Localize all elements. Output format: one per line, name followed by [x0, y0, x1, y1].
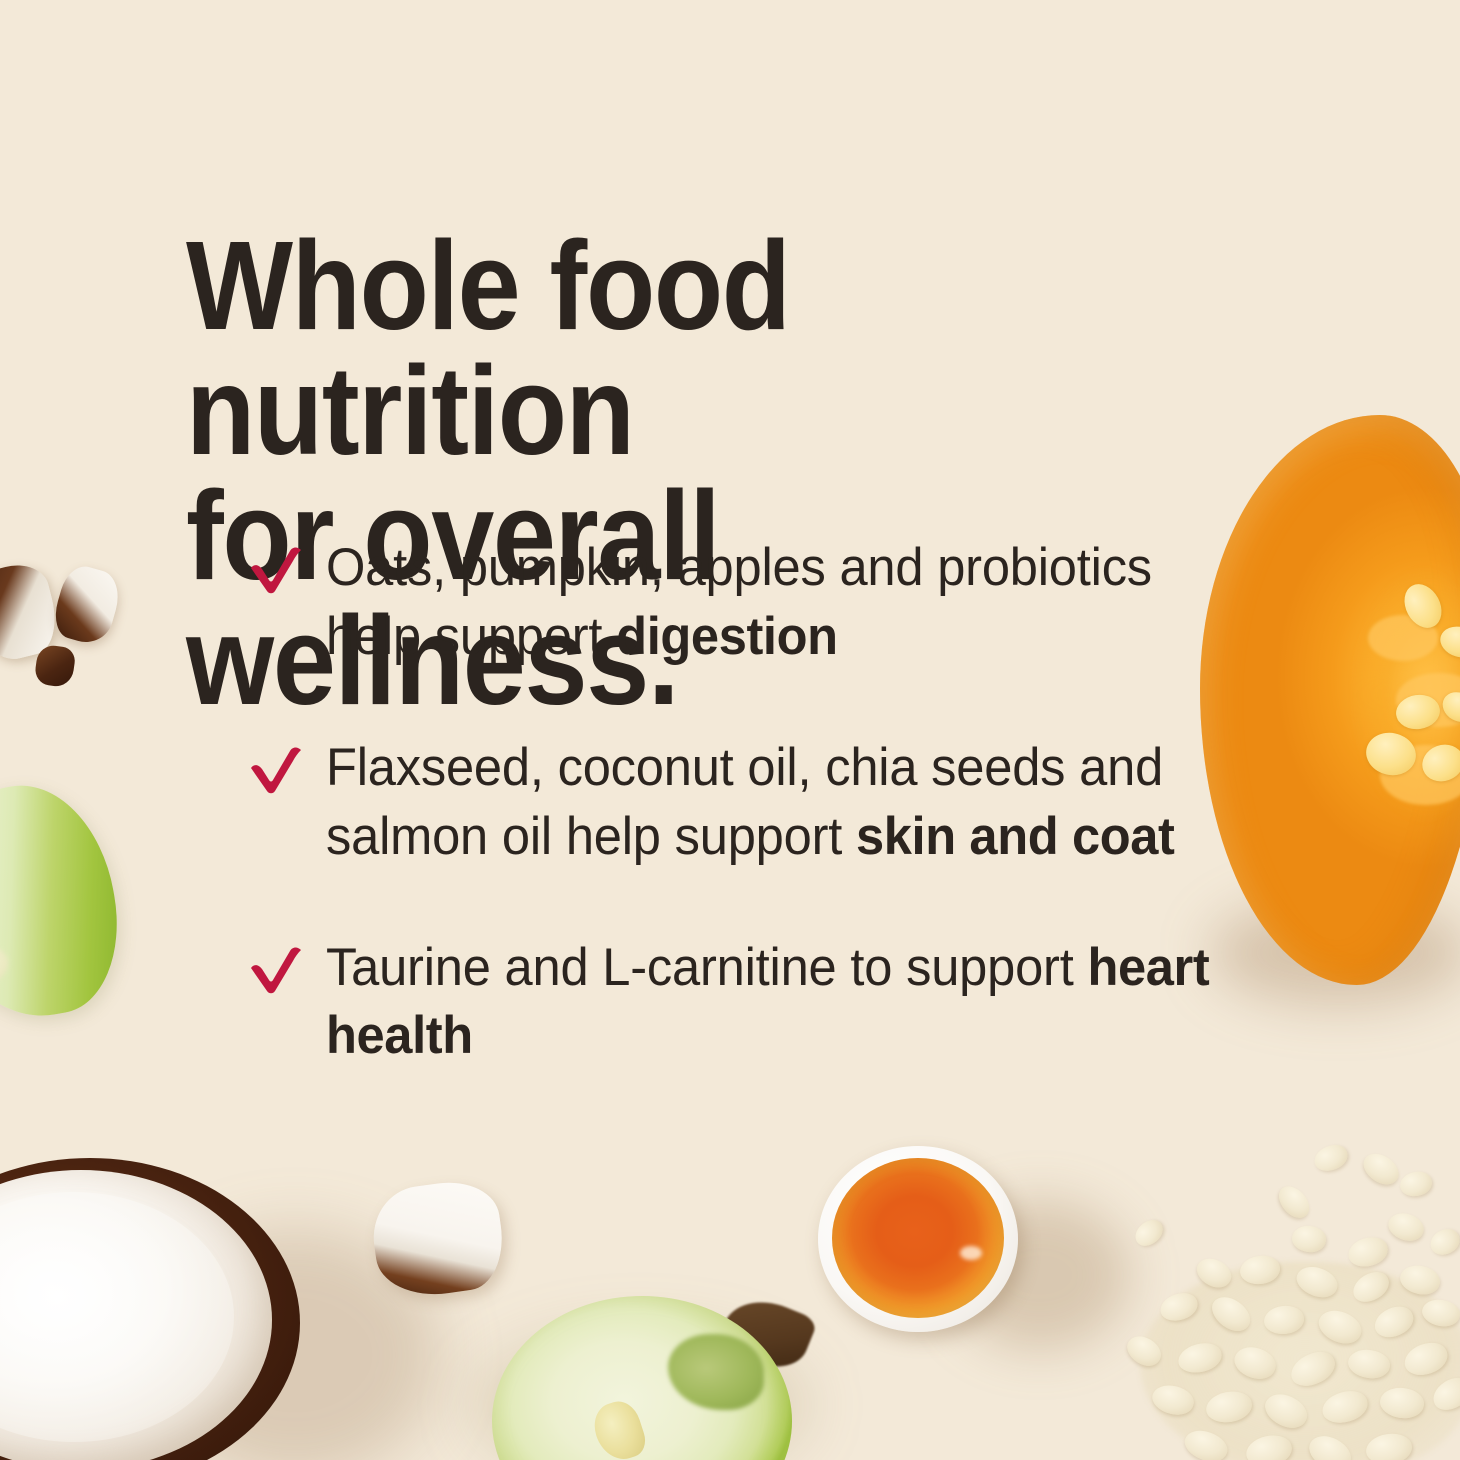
coconut-half-image: [0, 1158, 330, 1460]
salmon-oil-bowl-image: [818, 1146, 1038, 1346]
oat-flake: [1311, 1141, 1352, 1176]
benefit-emphasis: digestion: [616, 607, 838, 666]
rolled-oats-image: [1100, 1142, 1460, 1460]
oat-flake: [1273, 1181, 1315, 1224]
check-icon: [248, 744, 304, 794]
oat-flake: [1358, 1148, 1404, 1191]
oat-flake: [1398, 1169, 1434, 1199]
oil-highlight: [960, 1246, 982, 1260]
benefit-item: Taurine and L-carnitine to support heart…: [248, 934, 1258, 1072]
benefit-list: Oats, pumpkin, apples and probiotics hel…: [248, 534, 1258, 1071]
check-icon: [248, 944, 304, 994]
coconut-chunk: [49, 561, 125, 648]
benefit-text: Flaxseed, coconut oil, chia seeds and sa…: [326, 734, 1216, 872]
oat-flake: [1426, 1224, 1460, 1259]
green-apple-wedge-image: [0, 772, 133, 1032]
promo-poster: Whole food nutrition for overall wellnes…: [0, 0, 1460, 1460]
benefit-lead: Taurine and L-carnitine to support: [326, 938, 1087, 997]
oat-flake: [1291, 1224, 1328, 1253]
green-apple-half-image: [492, 1296, 812, 1460]
oat-flake: [1130, 1215, 1167, 1251]
oil-liquid: [832, 1158, 1004, 1318]
benefit-item: Oats, pumpkin, apples and probiotics hel…: [248, 534, 1258, 672]
oat-flake: [1385, 1209, 1427, 1245]
benefit-item: Flaxseed, coconut oil, chia seeds and sa…: [248, 734, 1258, 872]
apple-seed-pit: [0, 940, 12, 992]
benefit-emphasis: skin and coat: [856, 807, 1175, 866]
benefit-text: Oats, pumpkin, apples and probiotics hel…: [326, 534, 1216, 672]
benefit-text: Taurine and L-carnitine to support heart…: [326, 934, 1216, 1072]
check-icon: [248, 544, 304, 594]
